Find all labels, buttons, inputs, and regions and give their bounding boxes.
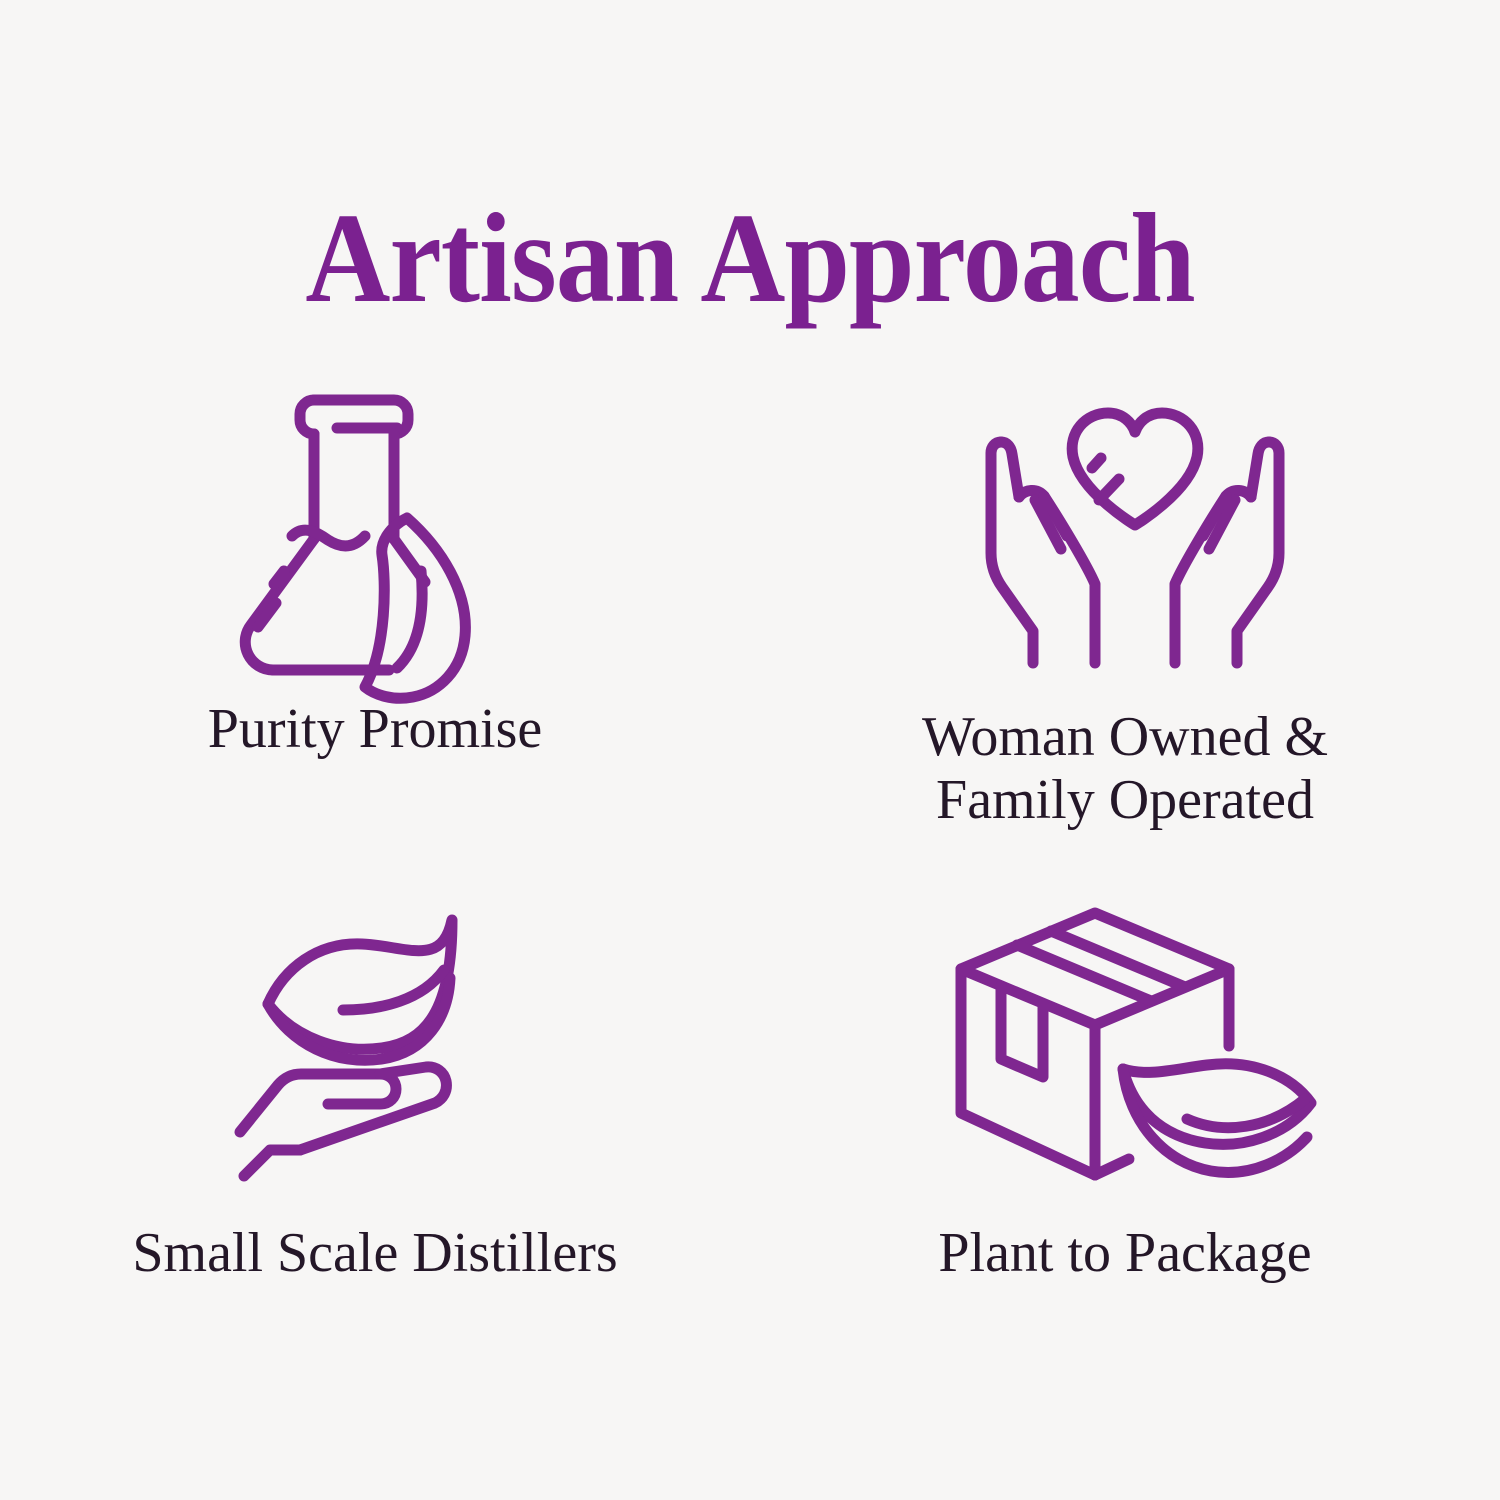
page-title: Artisan Approach xyxy=(60,194,1440,322)
feature-small-scale-distillers: Small Scale Distillers xyxy=(0,890,750,1420)
feature-label-plant-to-package: Plant to Package xyxy=(938,1222,1311,1285)
box-leaf-icon xyxy=(989,896,1309,1186)
leaf-in-hand-icon xyxy=(205,898,525,1188)
artisan-approach-page: Artisan Approach xyxy=(0,0,1500,1500)
flask-leaf-icon xyxy=(209,380,529,670)
feature-plant-to-package: Plant to Package xyxy=(750,890,1500,1420)
feature-label-purity-promise: Purity Promise xyxy=(208,698,542,761)
feature-label-small-scale-distillers: Small Scale Distillers xyxy=(132,1222,617,1285)
feature-woman-owned: Woman Owned & Family Operated xyxy=(750,360,1500,890)
hands-holding-heart-icon xyxy=(975,390,1295,680)
feature-label-woman-owned: Woman Owned & Family Operated xyxy=(922,706,1328,831)
feature-grid: Purity Promise xyxy=(0,360,1500,1420)
feature-purity-promise: Purity Promise xyxy=(0,360,750,890)
